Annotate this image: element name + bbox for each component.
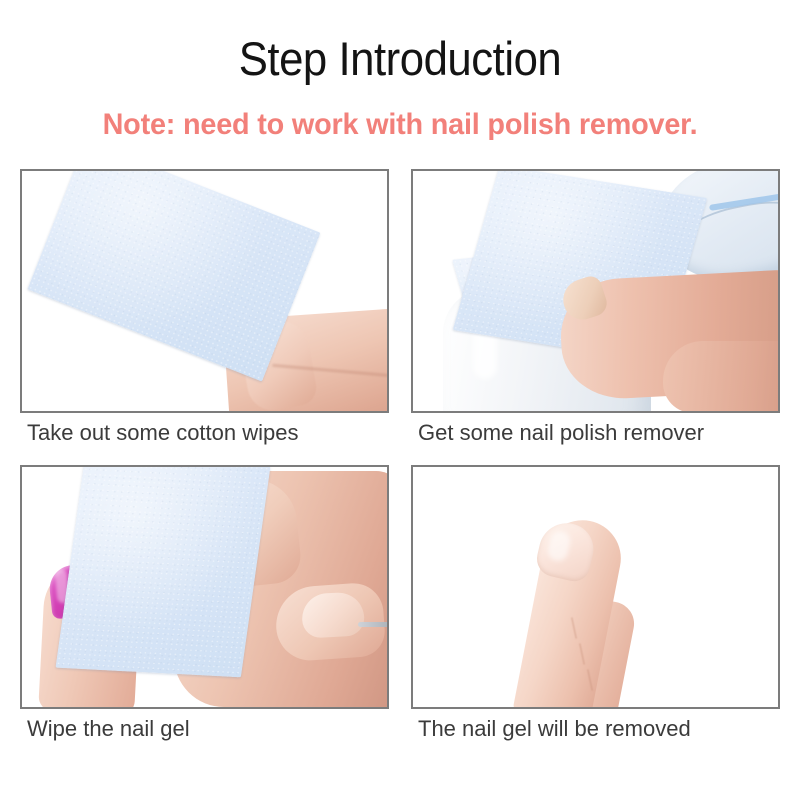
cotton-wipe bbox=[55, 465, 270, 677]
step-image-2 bbox=[411, 169, 780, 413]
step-introduction-page: Step Introduction Note: need to work wit… bbox=[0, 0, 800, 800]
step-card-1: Take out some cotton wipes bbox=[20, 169, 389, 459]
scene-get-remover bbox=[413, 171, 778, 411]
step-card-4: The nail gel will be removed bbox=[411, 465, 780, 755]
scene-nail-removed bbox=[413, 467, 778, 707]
page-title: Step Introduction bbox=[28, 33, 772, 85]
step-caption-4: The nail gel will be removed bbox=[418, 715, 691, 743]
step-card-2: Get some nail polish remover bbox=[411, 169, 780, 459]
step-caption-1: Take out some cotton wipes bbox=[27, 419, 298, 447]
fingernail-shape-secondary bbox=[301, 591, 365, 638]
step-caption-2: Get some nail polish remover bbox=[418, 419, 704, 447]
scene-wipe-nail-gel bbox=[22, 467, 387, 707]
thumb-lower-shape bbox=[663, 341, 780, 413]
steps-grid: Take out some cotton wipes bbox=[20, 169, 780, 767]
step-image-3 bbox=[20, 465, 389, 709]
note-text: Note: need to work with nail polish remo… bbox=[16, 108, 784, 142]
step-card-3: Wipe the nail gel bbox=[20, 465, 389, 755]
step-image-4 bbox=[411, 465, 780, 709]
step-image-1 bbox=[20, 169, 389, 413]
step-caption-3: Wipe the nail gel bbox=[27, 715, 190, 743]
scene-take-out-wipe bbox=[22, 171, 387, 411]
cuticle-stick bbox=[358, 622, 389, 627]
